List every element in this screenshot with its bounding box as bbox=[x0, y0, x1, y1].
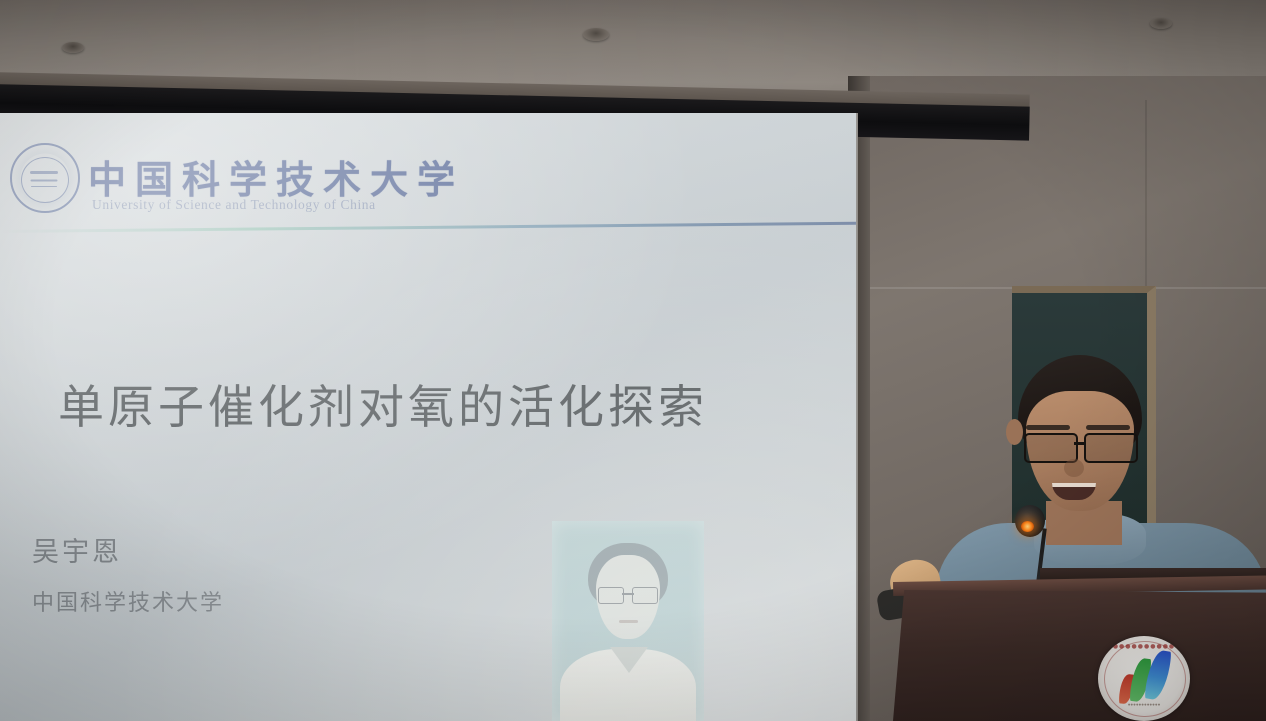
presenter-portrait-photo bbox=[552, 521, 704, 721]
slide-title: 单原子催化剂对氧的活化探索 bbox=[58, 371, 818, 437]
speaker-nose bbox=[1064, 459, 1084, 477]
speaker-eyebrow bbox=[1026, 425, 1070, 430]
university-name-english: University of Science and Technology of … bbox=[92, 197, 376, 213]
emblem-bottom-text: ●●●●●●●●●●●● bbox=[1110, 702, 1178, 707]
presenter-affiliation: 中国科学技术大学 bbox=[32, 585, 224, 617]
portrait-mouth bbox=[619, 620, 638, 623]
sprinkler-icon bbox=[62, 42, 84, 53]
sprinkler-icon bbox=[583, 28, 609, 41]
speaker-ear bbox=[1006, 419, 1023, 445]
presentation-slide: 中国科学技术大学 University of Science and Techn… bbox=[0, 113, 856, 721]
glasses-lens bbox=[1084, 433, 1138, 463]
ustc-seal-icon bbox=[10, 143, 80, 213]
microphone-led-indicator bbox=[1021, 521, 1034, 532]
glasses-bridge bbox=[1074, 442, 1086, 445]
presenter-name: 吴宇恩 bbox=[32, 530, 122, 569]
speaker-glasses-icon bbox=[1022, 433, 1142, 459]
speaker-eyebrow bbox=[1086, 425, 1130, 430]
institution-emblem: ●●●●●●●●●● ●●●●●●●●●●●● bbox=[1098, 636, 1190, 721]
sprinkler-icon bbox=[1150, 18, 1172, 29]
university-logo: 中国科学技术大学 University of Science and Techn… bbox=[6, 135, 476, 225]
projection-screen: 中国科学技术大学 University of Science and Techn… bbox=[0, 113, 856, 721]
wall-panel-seam bbox=[1145, 100, 1147, 290]
podium bbox=[893, 590, 1266, 721]
portrait-glasses-bridge bbox=[622, 593, 634, 595]
university-name-chinese: 中国科学技术大学 bbox=[88, 149, 464, 204]
presentation-photo-scene: 中国科学技术大学 University of Science and Techn… bbox=[0, 0, 1266, 721]
